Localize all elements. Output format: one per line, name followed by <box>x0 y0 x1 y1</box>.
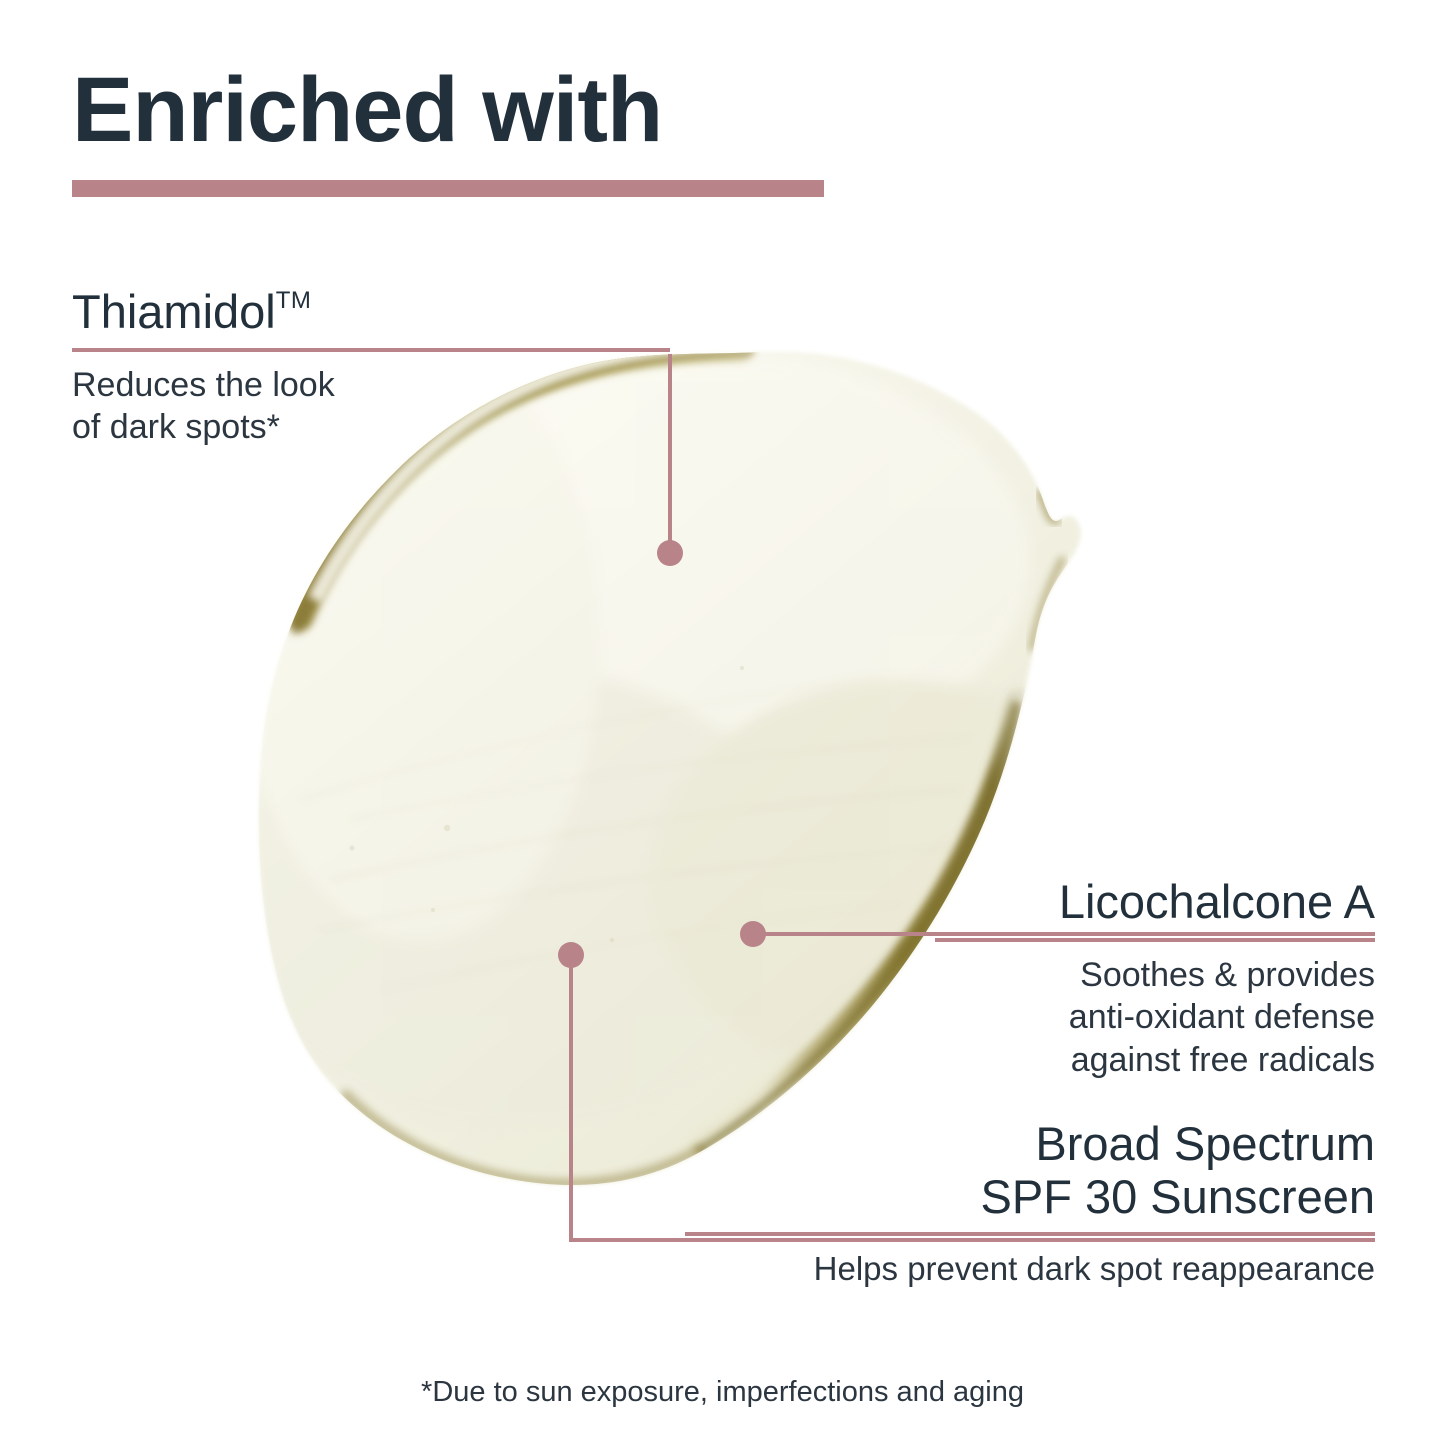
callout-spf: Broad Spectrum SPF 30 Sunscreen Helps pr… <box>685 1118 1375 1290</box>
callout-thiamidol-rule <box>72 348 670 352</box>
callout-licochalcone-rule <box>935 938 1375 942</box>
footnote-disclaimer: *Due to sun exposure, imperfections and … <box>0 1376 1445 1409</box>
callout-spf-description: Helps prevent dark spot reappearance <box>685 1248 1375 1290</box>
callout-spf-title-line-2: SPF 30 Sunscreen <box>685 1171 1375 1224</box>
callout-spf-title-line-1: Broad Spectrum <box>685 1118 1375 1171</box>
callout-licochalcone-desc-line-3: against free radicals <box>935 1039 1375 1082</box>
callout-thiamidol-desc-line-1: Reduces the look <box>72 364 670 407</box>
callout-licochalcone-desc-line-1: Soothes & provides <box>935 954 1375 997</box>
callout-licochalcone-title: Licochalcone A <box>935 876 1375 929</box>
leader-dot-thiamidol <box>657 540 683 566</box>
trademark-symbol: TM <box>276 287 312 314</box>
callout-thiamidol: ThiamidolTM Reduces the look of dark spo… <box>72 286 670 449</box>
callout-thiamidol-title: ThiamidolTM <box>72 286 670 339</box>
infographic-page: Enriched with ThiamidolTM Reduces the lo… <box>0 0 1445 1445</box>
page-title: Enriched with <box>72 62 662 159</box>
callout-thiamidol-desc-line-2: of dark spots* <box>72 406 670 449</box>
callout-spf-desc-line-1: Helps prevent dark spot reappearance <box>685 1248 1375 1290</box>
callout-spf-rule <box>685 1232 1375 1236</box>
leader-dot-licochalcone <box>740 921 766 947</box>
callout-spf-title: Broad Spectrum SPF 30 Sunscreen <box>685 1118 1375 1223</box>
leader-dot-spf <box>558 942 584 968</box>
callout-licochalcone-description: Soothes & provides anti-oxidant defense … <box>935 954 1375 1082</box>
callout-licochalcone: Licochalcone A Soothes & provides anti-o… <box>935 876 1375 1082</box>
heading-underline <box>72 180 824 197</box>
callout-licochalcone-desc-line-2: anti-oxidant defense <box>935 996 1375 1039</box>
callout-thiamidol-title-text: Thiamidol <box>72 285 276 338</box>
callout-thiamidol-description: Reduces the look of dark spots* <box>72 364 670 450</box>
